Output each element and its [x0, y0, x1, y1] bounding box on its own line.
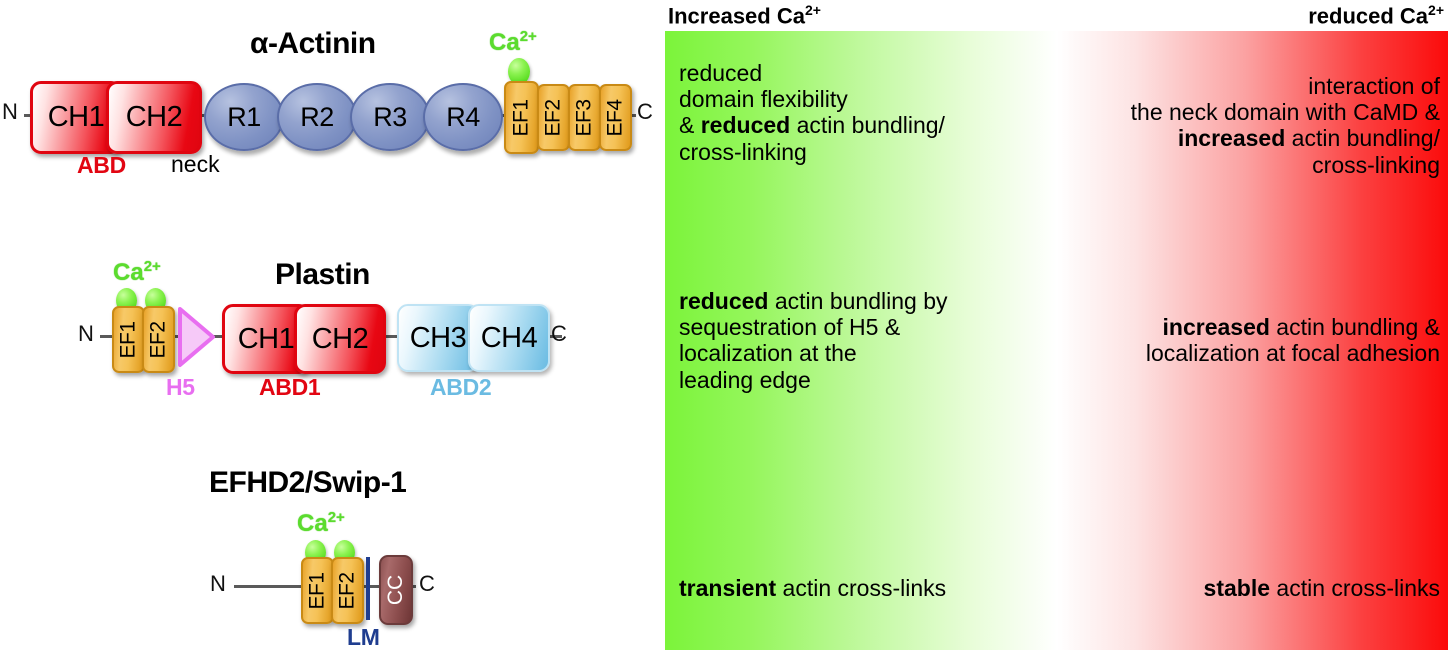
domain-ch4: CH4	[468, 304, 550, 372]
domain-r1: R1	[204, 83, 284, 151]
domain-r4: R4	[423, 83, 503, 151]
efhd2-c-terminus: C	[419, 571, 435, 597]
plastin-n-terminus: N	[78, 321, 94, 347]
plastin-title: Plastin	[275, 258, 370, 292]
domain-ef2-label: EF2	[336, 572, 360, 609]
cell-increased-plastin: reduced actin bundling bysequestration o…	[679, 288, 1049, 393]
domain-h5-triangle-icon	[176, 306, 216, 368]
alpha-actinin-c-terminus: C	[637, 99, 653, 125]
ca-label-plastin: Ca2+	[113, 258, 161, 287]
ca-label-efhd2: Ca2+	[297, 509, 345, 538]
sublabel-h5: H5	[166, 374, 195, 401]
domain-ch4-label: CH4	[481, 322, 538, 355]
domain-ef2: EF2	[142, 306, 175, 373]
sublabel-abd2: ABD2	[430, 374, 491, 401]
sublabel-neck: neck	[171, 151, 220, 178]
header-reduced-calcium-text: reduced Ca	[1308, 3, 1428, 28]
domain-r2-label: R2	[300, 102, 334, 133]
domain-ch2-label: CH2	[312, 323, 369, 356]
domain-r3-label: R3	[373, 102, 407, 133]
domain-ch1-label: CH1	[238, 323, 295, 356]
domain-cc: CC	[379, 555, 413, 625]
alpha-actinin-title: α-Actinin	[250, 27, 376, 61]
domain-r2: R2	[277, 83, 357, 151]
alpha-actinin-n-terminus: N	[2, 99, 18, 125]
efhd2-title: EFHD2/Swip-1	[209, 466, 406, 500]
header-increased-calcium-text: Increased Ca	[668, 3, 805, 28]
sublabel-lm: LM	[347, 624, 380, 651]
header-increased-calcium: Increased Ca2+	[668, 2, 821, 29]
cell-reduced-efhd2: stable actin cross-links	[1020, 575, 1440, 601]
domain-ch1-label: CH1	[48, 101, 105, 134]
domain-ef2: EF2	[537, 84, 570, 151]
cell-reduced-plastin: increased actin bundling &localization a…	[1020, 314, 1440, 366]
domain-ch3: CH3	[397, 304, 479, 372]
domain-ef1-label: EF1	[510, 99, 534, 136]
sublabel-abd1: ABD1	[259, 374, 320, 401]
domain-ef2: EF2	[331, 557, 364, 624]
domain-ef1: EF1	[504, 81, 539, 154]
lm-marker-bar	[366, 557, 370, 620]
domain-ef3-label: EF3	[573, 99, 597, 136]
protein-schematics-panel: α-Actinin N C CH1 CH2 R1 R2 R3 R4 Ca2+ E	[0, 0, 660, 661]
header-reduced-calcium-sup: 2+	[1428, 2, 1444, 18]
domain-ch3-label: CH3	[410, 322, 467, 355]
domain-ef1-label: EF1	[306, 572, 330, 609]
domain-cc-label: CC	[384, 575, 408, 605]
domain-ch2-label: CH2	[126, 101, 183, 134]
ca-label-alpha-actinin: Ca2+	[489, 28, 537, 57]
domain-ef3: EF3	[568, 84, 601, 151]
gradient-comparison-body: reduceddomain flexibility& reduced actin…	[665, 31, 1448, 650]
domain-ch2: CH2	[294, 304, 386, 374]
cell-reduced-alpha-actinin: interaction ofthe neck domain with CaMD …	[1020, 73, 1440, 178]
domain-r1-label: R1	[227, 102, 261, 133]
domain-ef4: EF4	[599, 84, 632, 151]
domain-ef2-label: EF2	[147, 321, 171, 358]
plastin-c-terminus: C	[551, 321, 567, 347]
domain-r3: R3	[350, 83, 430, 151]
domain-ef1: EF1	[112, 306, 145, 373]
domain-ef1: EF1	[301, 557, 334, 624]
header-increased-calcium-sup: 2+	[805, 2, 821, 18]
domain-ef1-label: EF1	[117, 321, 141, 358]
header-reduced-calcium: reduced Ca2+	[1308, 2, 1444, 29]
domain-ef4-label: EF4	[604, 99, 628, 136]
domain-r4-label: R4	[446, 102, 480, 133]
domain-ch2: CH2	[106, 81, 202, 154]
sublabel-abd: ABD	[77, 152, 126, 179]
domain-ef2-label: EF2	[542, 99, 566, 136]
cell-increased-efhd2: transient actin cross-links	[679, 575, 1049, 601]
cell-increased-alpha-actinin: reduceddomain flexibility& reduced actin…	[679, 60, 1049, 165]
efhd2-n-terminus: N	[210, 571, 226, 597]
